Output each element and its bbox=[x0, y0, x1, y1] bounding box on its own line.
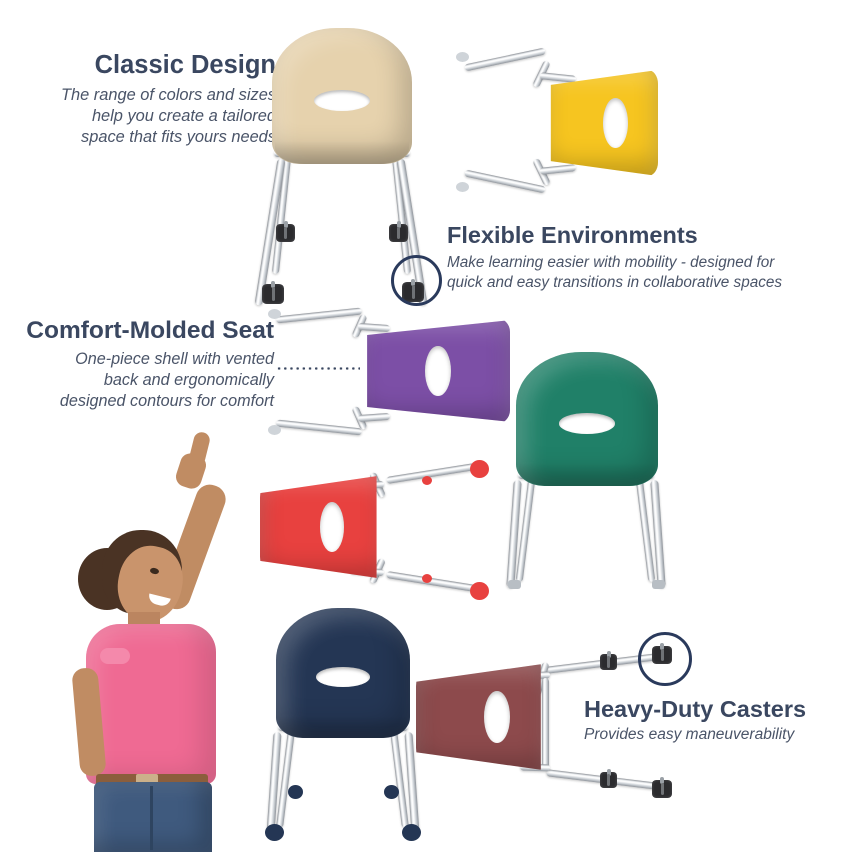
chair-glide bbox=[268, 309, 281, 319]
chair-leg-tube bbox=[540, 72, 577, 83]
chair-glide bbox=[652, 580, 665, 589]
callout-body-line: One-piece shell with vented bbox=[8, 349, 274, 370]
chair-leg-tube bbox=[358, 323, 390, 332]
callout-body: The range of colors and sizes help you c… bbox=[14, 85, 276, 149]
chair-ball-glide bbox=[470, 582, 489, 600]
chair-glide bbox=[456, 182, 469, 192]
chair-caster bbox=[600, 654, 617, 670]
callout-body-line: help you create a tailored bbox=[14, 106, 276, 127]
chair-beige-front-casters bbox=[258, 28, 426, 296]
chair-leg-tube bbox=[542, 678, 549, 768]
chair-ball-glide bbox=[288, 785, 303, 799]
jeans-seam bbox=[150, 786, 153, 850]
chair-glide bbox=[456, 52, 469, 62]
chair-leg-tube bbox=[358, 413, 390, 422]
chair-vent-hole bbox=[559, 413, 616, 434]
chair-caster bbox=[652, 780, 672, 798]
chair-vent-hole bbox=[320, 502, 345, 553]
chair-leg-tube bbox=[464, 170, 546, 194]
callout-body-line: designed contours for comfort bbox=[8, 391, 274, 412]
chair-navy-front bbox=[262, 608, 424, 838]
chair-caster bbox=[276, 224, 295, 242]
callout-body-line: The range of colors and sizes bbox=[14, 85, 276, 106]
callout-title: Comfort-Molded Seat bbox=[8, 318, 274, 344]
callout-flexible-environments: Flexible Environments Make learning easi… bbox=[447, 223, 837, 292]
chair-yellow-top bbox=[448, 30, 658, 216]
infographic-canvas: Classic Design The range of colors and s… bbox=[0, 0, 850, 850]
chair-ball-glide bbox=[422, 574, 432, 583]
chair-leg-tube bbox=[464, 48, 546, 72]
chair-vent-hole bbox=[603, 98, 628, 149]
chair-shell bbox=[272, 28, 412, 164]
callout-classic-design: Classic Design The range of colors and s… bbox=[14, 52, 276, 149]
caster-highlight-bottom bbox=[638, 632, 692, 686]
chair-shell bbox=[260, 474, 384, 580]
chair-ball-glide bbox=[470, 460, 489, 478]
chair-leg-tube bbox=[276, 308, 362, 324]
chair-shell bbox=[516, 352, 658, 486]
chair-vent-hole bbox=[484, 691, 510, 744]
jeans bbox=[94, 782, 212, 852]
child-pointing-up-photo bbox=[52, 430, 264, 850]
chair-leg-tube bbox=[276, 420, 362, 436]
chair-shell bbox=[276, 608, 410, 738]
chair-red-top bbox=[258, 448, 498, 606]
chair-shell bbox=[358, 318, 510, 424]
callout-body-line: Make learning easier with mobility - des… bbox=[447, 253, 837, 273]
chair-vent-hole bbox=[316, 667, 370, 687]
callout-body-line: space that fits yours needs bbox=[14, 127, 276, 148]
chair-caster bbox=[600, 772, 617, 788]
chair-ball-glide bbox=[422, 476, 432, 485]
chair-shell bbox=[544, 70, 658, 176]
chair-leg-tube bbox=[540, 164, 577, 175]
chair-ball-glide bbox=[384, 785, 399, 799]
callout-body-line: quick and easy transitions in collaborat… bbox=[447, 273, 837, 293]
callout-comfort-molded-seat: Comfort-Molded Seat One-piece shell with… bbox=[8, 318, 274, 412]
callout-body: One-piece shell with vented back and erg… bbox=[8, 349, 274, 412]
callout-title: Flexible Environments bbox=[447, 223, 837, 248]
chair-ball-glide bbox=[265, 824, 284, 841]
chair-green-front bbox=[504, 352, 670, 590]
chair-caster bbox=[389, 224, 408, 242]
chair-glide bbox=[268, 425, 281, 435]
chair-purple-top bbox=[262, 296, 512, 448]
callout-body: Make learning easier with mobility - des… bbox=[447, 253, 837, 293]
chair-leg-tube bbox=[386, 571, 476, 592]
callout-title: Classic Design bbox=[14, 52, 276, 79]
chair-vent-hole bbox=[314, 90, 370, 111]
chair-ball-glide bbox=[402, 824, 421, 841]
shirt-bow bbox=[100, 648, 130, 664]
chair-shell bbox=[416, 662, 546, 772]
chair-glide bbox=[508, 580, 521, 589]
chair-vent-hole bbox=[425, 346, 451, 397]
callout-body-line: back and ergonomically bbox=[8, 370, 274, 391]
